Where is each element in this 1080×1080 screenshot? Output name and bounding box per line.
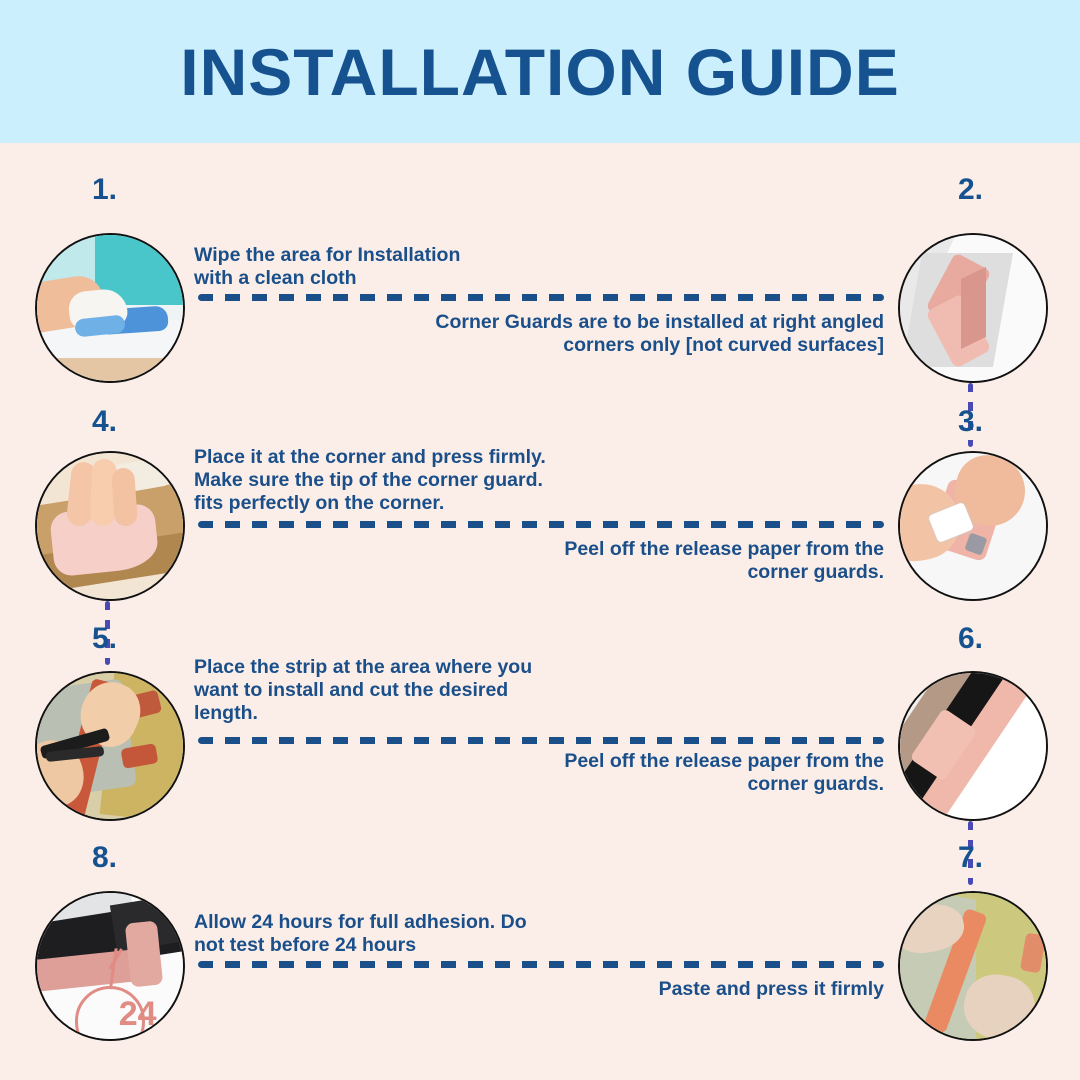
step-image-5: [35, 671, 185, 821]
page-header: INSTALLATION GUIDE: [0, 0, 1080, 143]
step-text-2: Corner Guards are to be installed at rig…: [390, 311, 884, 357]
divider-row-3: [198, 737, 884, 744]
step-image-6: [898, 671, 1048, 821]
pink-corner-guard-photo: [900, 235, 1046, 381]
step-text-1: Wipe the area for Installation with a cl…: [194, 244, 624, 290]
step-number-7: 7.: [958, 843, 983, 873]
installed-guard-24-hour-clock-photo: 24: [37, 893, 183, 1039]
steps-board: 1. Wipe the area for Installation with a…: [0, 143, 1080, 1080]
step-image-7: [898, 891, 1048, 1041]
divider-row-4: [198, 961, 884, 968]
step-number-8: 8.: [92, 843, 117, 873]
step-text-5: Place the strip at the area where you wa…: [194, 656, 624, 725]
cutting-strip-with-scissors-photo: [37, 673, 183, 819]
step-image-4: [35, 451, 185, 601]
divider-row-1: [198, 294, 884, 301]
step-text-6: Peel off the release paper from the corn…: [390, 750, 884, 796]
pressing-strip-on-wall-photo: [900, 893, 1046, 1039]
step-number-2: 2.: [958, 175, 983, 205]
step-image-1: [35, 233, 185, 383]
wiping-surface-with-cloth-photo: [37, 235, 183, 381]
pressing-guard-on-table-corner-photo: [37, 453, 183, 599]
step-text-3: Peel off the release paper from the corn…: [390, 538, 884, 584]
clock-badge-label: 24: [119, 995, 157, 1034]
step-number-3: 3.: [958, 407, 983, 437]
step-number-4: 4.: [92, 407, 117, 437]
step-text-8: Allow 24 hours for full adhesion. Do not…: [194, 911, 624, 957]
step-number-5: 5.: [92, 624, 117, 654]
step-image-3: [898, 451, 1048, 601]
peeling-strip-release-paper-photo: [900, 673, 1046, 819]
step-image-2: [898, 233, 1048, 383]
peeling-release-paper-photo: [900, 453, 1046, 599]
step-number-6: 6.: [958, 624, 983, 654]
step-text-4: Place it at the corner and press firmly.…: [194, 446, 624, 515]
divider-row-2: [198, 521, 884, 528]
step-number-1: 1.: [92, 175, 117, 205]
step-text-7: Paste and press it firmly: [390, 978, 884, 1001]
step-image-8: 24: [35, 891, 185, 1041]
page-title: INSTALLATION GUIDE: [180, 39, 900, 105]
